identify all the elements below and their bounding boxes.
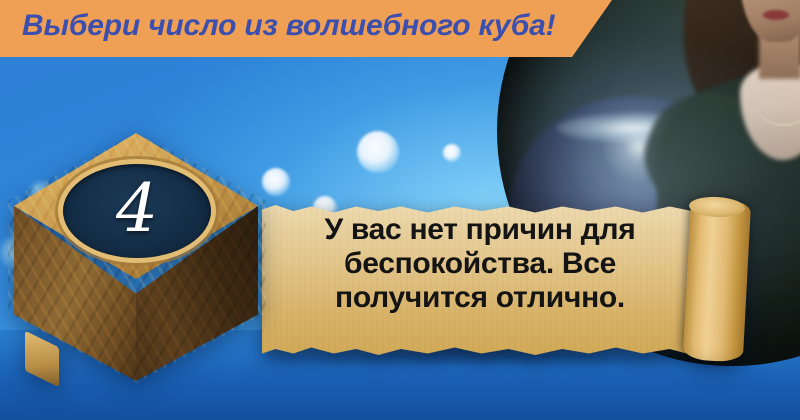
- prediction-line-2: беспокойства. Все: [270, 247, 690, 281]
- fortune-card: Выбери число из волшебного куба! У вас н…: [0, 0, 800, 420]
- scroll-roll: [683, 198, 751, 363]
- prediction-text: У вас нет причин для беспокойства. Все п…: [270, 213, 690, 315]
- prediction-line-3: получится отлично.: [270, 281, 690, 315]
- cube-foot: [25, 331, 59, 388]
- prediction-scroll: У вас нет причин для беспокойства. Все п…: [262, 205, 710, 355]
- magic-cube[interactable]: 4: [8, 133, 266, 383]
- prediction-line-1: У вас нет причин для: [270, 213, 690, 247]
- headline-banner: Выбери число из волшебного куба!: [0, 0, 800, 57]
- cube-number: 4: [63, 164, 211, 258]
- headline-text: Выбери число из волшебного куба!: [22, 9, 555, 43]
